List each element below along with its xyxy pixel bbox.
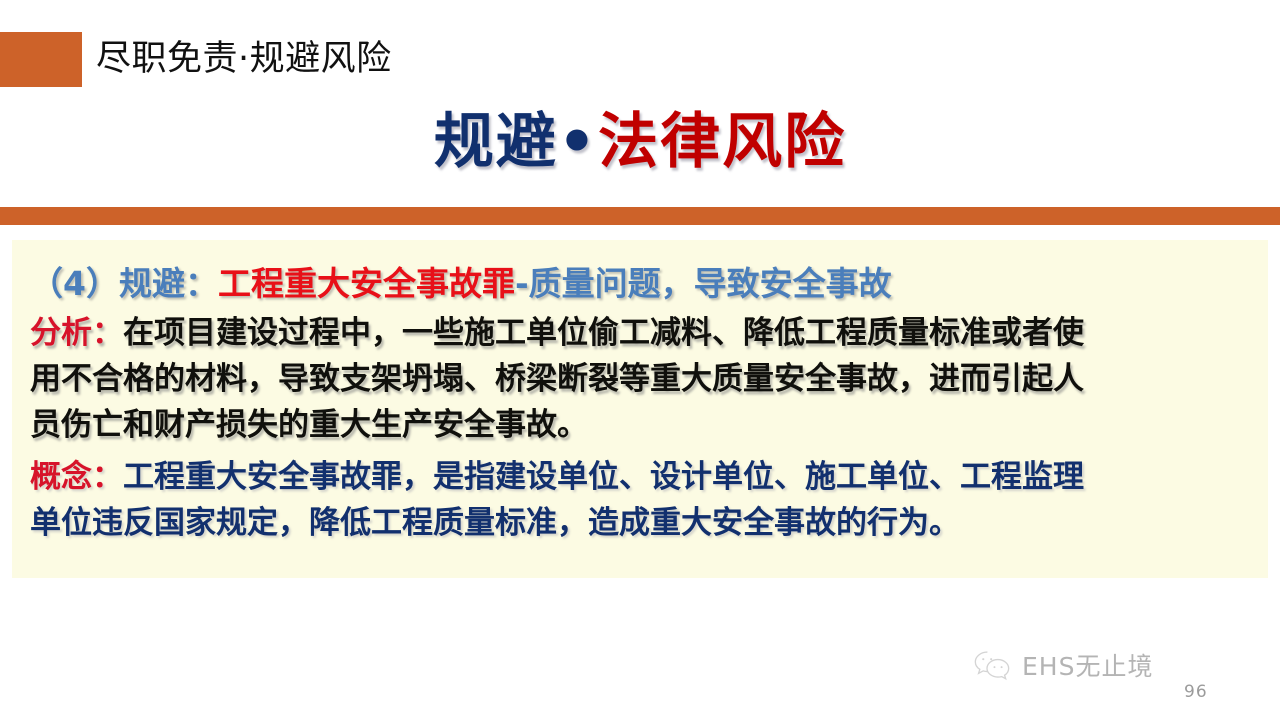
section-heading-suffix: -质量问题，导致安全事故 [515, 264, 892, 303]
concept-line-2: 单位违反国家规定，降低工程质量标准，造成重大安全事故的行为。 [30, 500, 1270, 546]
section-heading-prefix: （4）规避： [30, 264, 218, 303]
body-text-block: （4）规避：工程重大安全事故罪-质量问题，导致安全事故 分析：在项目建设过程中，… [30, 258, 1270, 546]
page-title-red-part: 法律风险 [598, 107, 846, 177]
header-title: 尽职免责·规避风险 [96, 32, 392, 87]
slide-header: 尽职免责·规避风险 [0, 32, 1280, 88]
analysis-label: 分析： [30, 315, 123, 351]
concept-label: 概念： [30, 459, 123, 495]
page-number: 96 [1184, 682, 1208, 702]
concept-text-1: 工程重大安全事故罪，是指建设单位、设计单位、施工单位、工程监理 [123, 459, 1084, 495]
analysis-line-2: 用不合格的材料，导致支架坍塌、桥梁断裂等重大质量安全事故，进而引起人 [30, 356, 1270, 402]
concept-line-1: 概念：工程重大安全事故罪，是指建设单位、设计单位、施工单位、工程监理 [30, 454, 1270, 500]
wechat-icon [972, 648, 1012, 682]
slide-canvas: 尽职免责·规避风险 规避•法律风险 （4）规避：工程重大安全事故罪-质量问题，导… [0, 0, 1280, 720]
section-heading: （4）规避：工程重大安全事故罪-质量问题，导致安全事故 [30, 258, 1270, 310]
analysis-text-1: 在项目建设过程中，一些施工单位偷工减料、降低工程质量标准或者使 [123, 315, 1084, 351]
header-color-swatch [0, 32, 82, 87]
analysis-line-1: 分析：在项目建设过程中，一些施工单位偷工减料、降低工程质量标准或者使 [30, 310, 1270, 356]
page-title: 规避•法律风险 [0, 104, 1280, 180]
section-heading-crime: 工程重大安全事故罪 [218, 264, 515, 303]
orange-divider-bar [0, 207, 1280, 225]
watermark: EHS无止境 [972, 648, 1153, 682]
analysis-line-3: 员伤亡和财产损失的重大生产安全事故。 [30, 402, 1270, 448]
watermark-text: EHS无止境 [1022, 647, 1153, 683]
page-title-blue-part: 规避• [434, 107, 598, 177]
